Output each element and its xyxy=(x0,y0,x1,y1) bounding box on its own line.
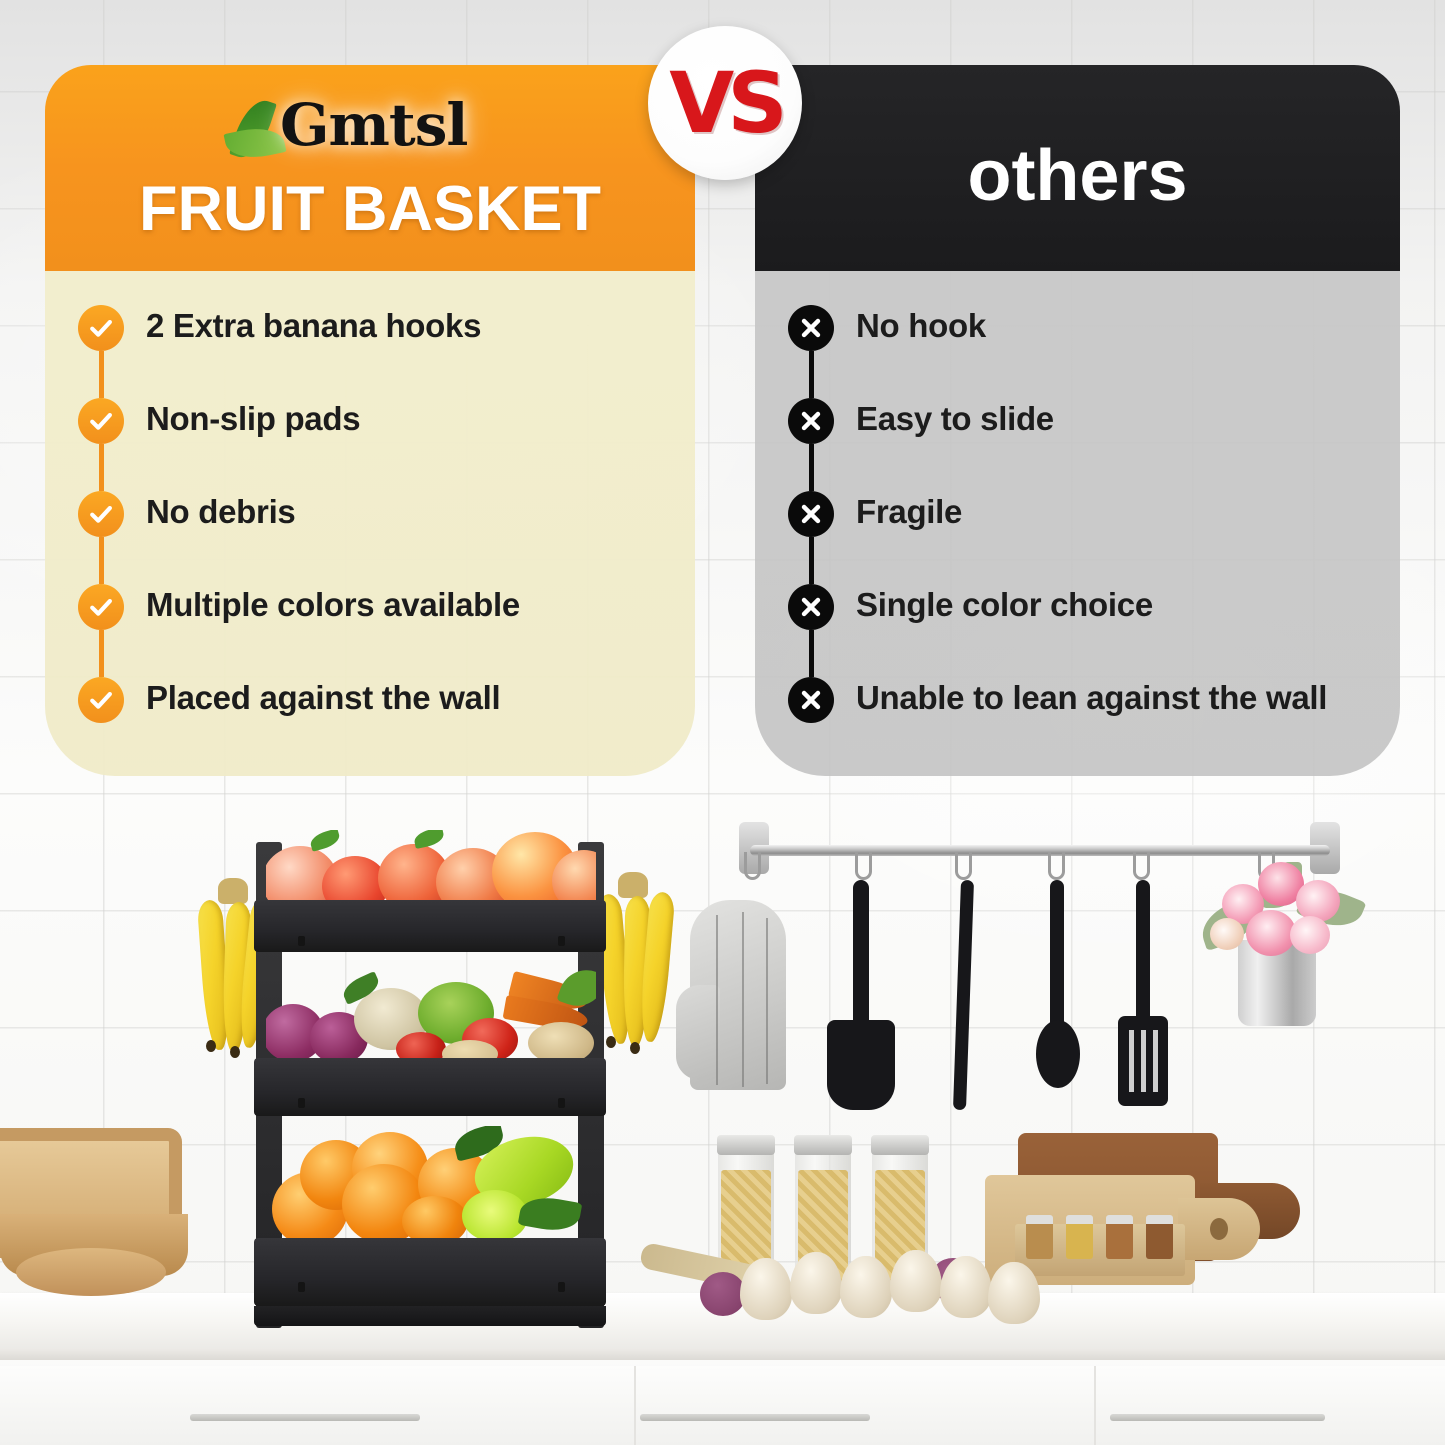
spice-jar xyxy=(1066,1215,1093,1259)
cabinet-handle xyxy=(190,1414,420,1421)
cabinet-door xyxy=(1096,1366,1445,1445)
list-item-label: Placed against the wall xyxy=(124,677,500,717)
spice-jar xyxy=(1026,1215,1053,1259)
bullet-column xyxy=(78,677,124,723)
fruit-leaf xyxy=(413,830,446,849)
rose-bloom xyxy=(1210,918,1244,950)
fruit-basket-product xyxy=(240,830,620,1330)
fruit-leaf xyxy=(308,830,341,852)
rail-hook xyxy=(1133,852,1150,880)
jar-lid xyxy=(794,1135,852,1155)
list-item: Placed against the wall xyxy=(78,677,678,723)
list-connector-line xyxy=(99,630,104,677)
list-item: Unable to lean against the wall xyxy=(788,677,1388,723)
list-item-label: Multiple colors available xyxy=(124,584,520,624)
check-icon xyxy=(78,584,124,630)
bottom-tier-contents xyxy=(266,1126,596,1244)
list-item-label: Fragile xyxy=(834,491,962,531)
list-item-label: No debris xyxy=(124,491,296,531)
list-connector-line xyxy=(809,444,814,491)
list-item-label: No hook xyxy=(834,305,986,345)
garlic-bulb xyxy=(740,1258,792,1320)
infographic-canvas: Gmtsl FRUIT BASKET 2 Extra banana hooks … xyxy=(0,0,1445,1445)
spice-jar xyxy=(1146,1215,1173,1259)
rose-bloom xyxy=(1290,916,1330,954)
bullet-column xyxy=(78,398,124,444)
list-item: Multiple colors available xyxy=(78,584,678,630)
utensil-rail xyxy=(750,845,1330,856)
jar-lid xyxy=(871,1135,929,1155)
basket-screw xyxy=(298,1282,305,1292)
turner-slot xyxy=(1141,1030,1146,1092)
top-tier-contents xyxy=(266,830,596,908)
list-item-label: Unable to lean against the wall xyxy=(834,677,1327,717)
left-feature-list: 2 Extra banana hooks Non-slip pads No de… xyxy=(78,305,678,723)
turner-slot xyxy=(1129,1030,1134,1092)
wooden-spoon xyxy=(16,1248,166,1296)
list-item: Fragile xyxy=(788,491,1388,537)
list-connector-line xyxy=(99,444,104,491)
list-item: Non-slip pads xyxy=(78,398,678,444)
left-panel-title: FRUIT BASKET xyxy=(45,178,695,241)
rail-hook xyxy=(744,852,761,880)
vs-badge: VS xyxy=(648,26,802,180)
list-item-label: 2 Extra banana hooks xyxy=(124,305,481,345)
rail-hook xyxy=(855,852,872,880)
oven-mitt-thumb xyxy=(676,985,720,1080)
bullet-column xyxy=(788,305,834,351)
vs-label: VS xyxy=(669,61,781,145)
orange xyxy=(402,1196,468,1244)
rail-hook xyxy=(955,852,972,880)
cross-icon xyxy=(788,677,834,723)
list-item-label: Single color choice xyxy=(834,584,1153,624)
basket-base xyxy=(254,1306,606,1326)
right-panel-title: others xyxy=(755,140,1400,212)
check-icon xyxy=(78,305,124,351)
mitt-stitch xyxy=(716,915,718,1085)
right-feature-list: No hook Easy to slide Fragile xyxy=(788,305,1388,723)
list-connector-line xyxy=(99,351,104,398)
mitt-stitch xyxy=(742,912,744,1087)
bullet-column xyxy=(78,305,124,351)
basket-screw xyxy=(558,1282,565,1292)
list-item: Easy to slide xyxy=(788,398,1388,444)
banana-tip xyxy=(630,1042,640,1054)
basket-screw xyxy=(298,1098,305,1108)
spoon-handle xyxy=(1050,880,1064,1040)
bullet-column xyxy=(788,677,834,723)
cabinet-door xyxy=(0,1366,636,1445)
basket-screw xyxy=(298,936,305,946)
banana-tip xyxy=(206,1040,216,1052)
cabinet-handle xyxy=(1110,1414,1325,1421)
cabinet-handle xyxy=(640,1414,870,1421)
rail-hook xyxy=(1048,852,1065,880)
list-item-label: Non-slip pads xyxy=(124,398,360,438)
banana-tip xyxy=(230,1046,240,1058)
turner-handle xyxy=(1136,880,1150,1030)
cross-icon xyxy=(788,491,834,537)
list-connector-line xyxy=(99,537,104,584)
garlic-bulb xyxy=(790,1252,842,1314)
banana-stem xyxy=(618,872,648,898)
basket-screw xyxy=(558,936,565,946)
board-hang-hole xyxy=(1210,1218,1228,1240)
turner-slot xyxy=(1153,1030,1158,1092)
mitt-stitch xyxy=(766,918,768,1084)
basket-tier-top-front xyxy=(254,900,606,952)
bullet-column xyxy=(788,584,834,630)
list-item: Single color choice xyxy=(788,584,1388,630)
bullet-column xyxy=(78,584,124,630)
cabinet-door xyxy=(636,1366,1096,1445)
list-item-label: Easy to slide xyxy=(834,398,1054,438)
list-connector-line xyxy=(809,630,814,677)
spoon-bowl xyxy=(1036,1020,1080,1088)
list-connector-line xyxy=(809,351,814,398)
garlic-bulb xyxy=(988,1262,1040,1324)
bullet-column xyxy=(788,398,834,444)
garlic-bulb xyxy=(940,1256,992,1318)
rose-bloom xyxy=(1246,910,1296,956)
garlic-bulb xyxy=(890,1250,942,1312)
check-icon xyxy=(78,491,124,537)
check-icon xyxy=(78,398,124,444)
list-item: 2 Extra banana hooks xyxy=(78,305,678,351)
list-item: No hook xyxy=(788,305,1388,351)
cross-icon xyxy=(788,305,834,351)
bullet-column xyxy=(78,491,124,537)
rose-bloom xyxy=(1296,880,1340,922)
basket-tier-middle-front xyxy=(254,1058,606,1116)
check-icon xyxy=(78,677,124,723)
list-item: No debris xyxy=(78,491,678,537)
jar-lid xyxy=(717,1135,775,1155)
cross-icon xyxy=(788,584,834,630)
brand-logo-text: Gmtsl xyxy=(280,96,467,154)
spatula-head xyxy=(827,1020,895,1110)
basket-tier-bottom-front xyxy=(254,1238,606,1306)
basket-screw xyxy=(558,1098,565,1108)
list-connector-line xyxy=(809,537,814,584)
middle-tier-contents xyxy=(266,956,596,1064)
spice-jar xyxy=(1106,1215,1133,1259)
cross-icon xyxy=(788,398,834,444)
garlic-bulb xyxy=(840,1256,892,1318)
bullet-column xyxy=(788,491,834,537)
